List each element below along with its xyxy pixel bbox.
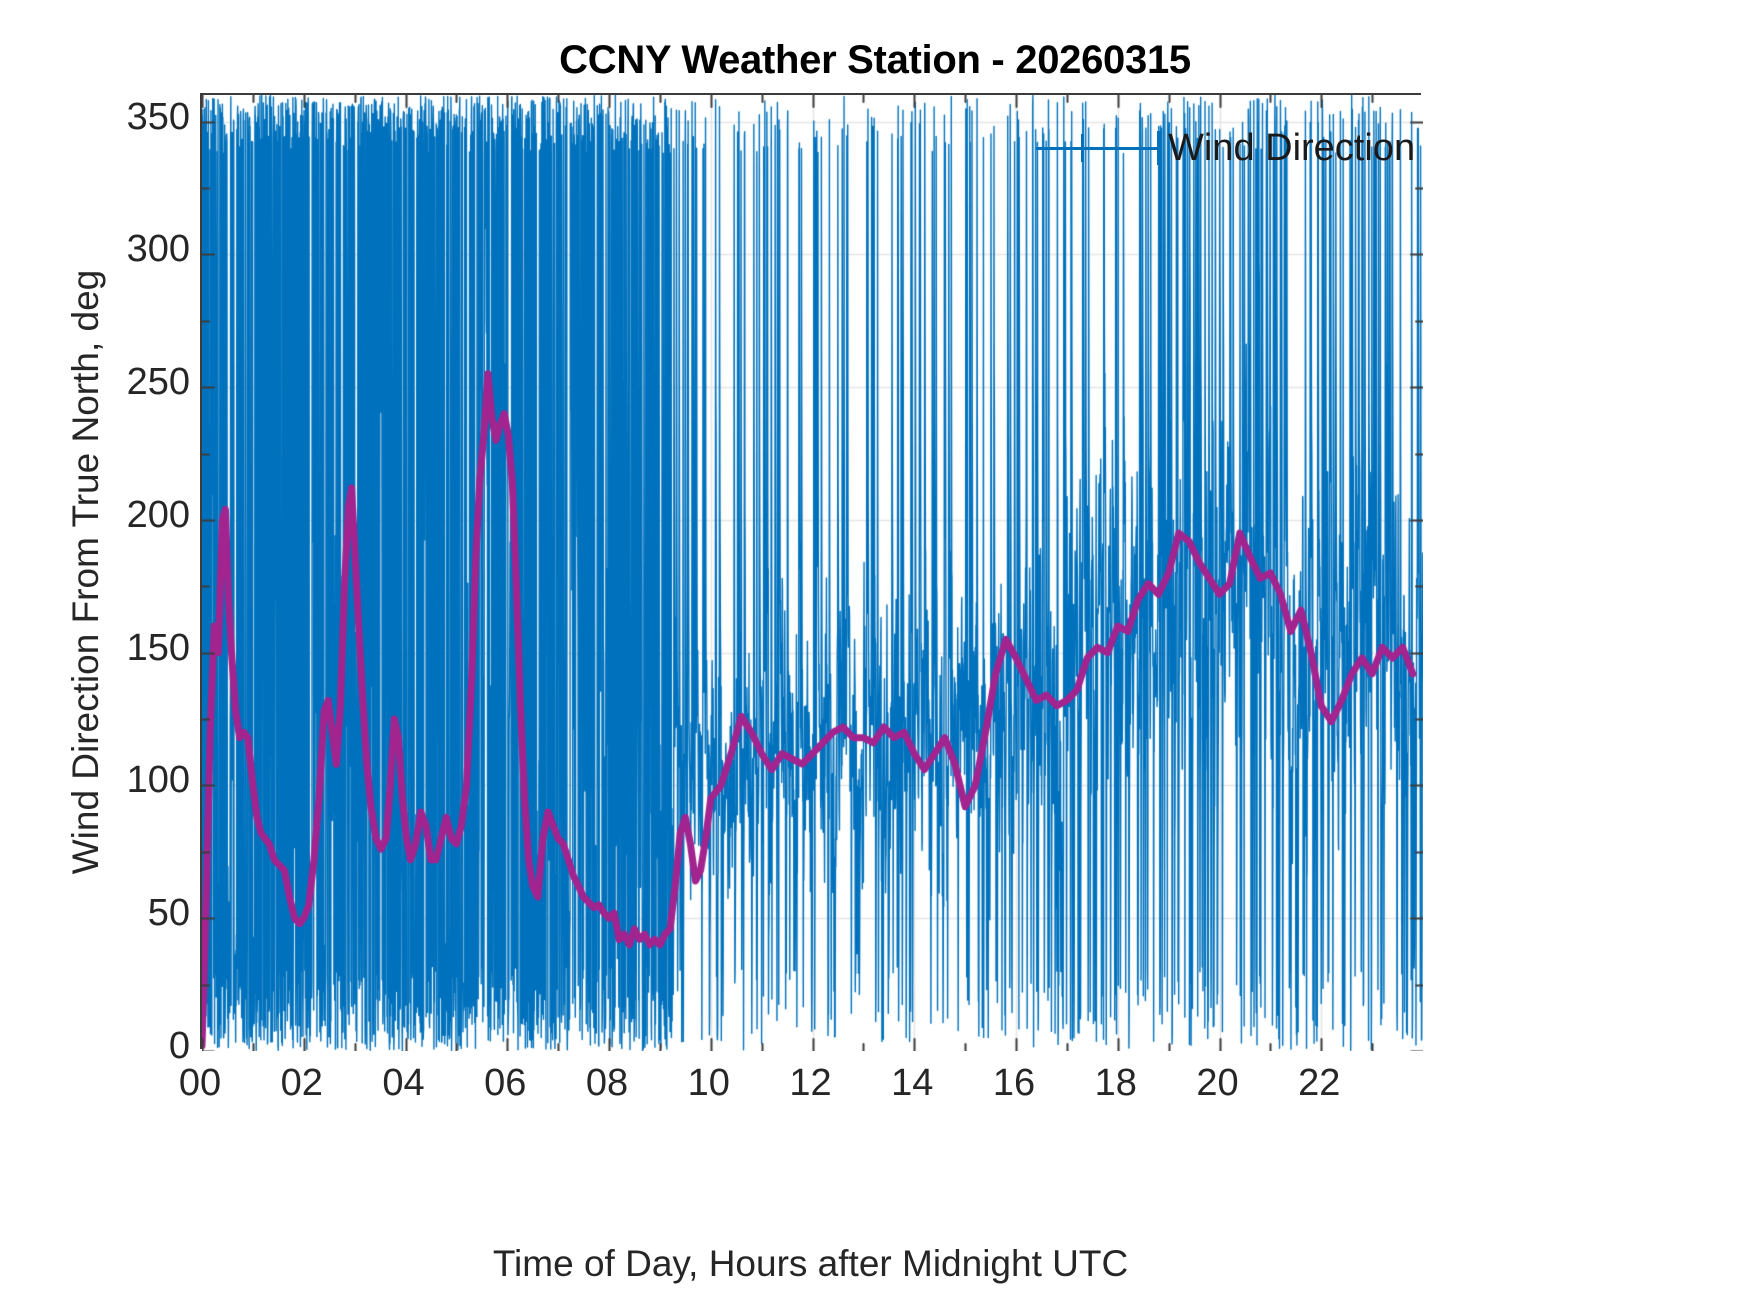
y-axis-tick-label: 50 (148, 892, 190, 935)
y-axis-tick-label: 250 (127, 361, 190, 404)
x-axis-tick-label: 04 (364, 1062, 444, 1105)
y-axis-tick-label: 300 (127, 228, 190, 271)
legend[interactable]: Wind Direction (1036, 122, 1415, 174)
legend-line-swatch (1036, 134, 1160, 162)
chart-title: CCNY Weather Station - 20260315 (0, 38, 1750, 83)
y-axis-label: Wind Direction From True North, deg (58, 94, 114, 1050)
plot-area (200, 93, 1421, 1049)
x-axis-tick-label: 20 (1178, 1062, 1258, 1105)
x-axis-tick-label: 18 (1076, 1062, 1156, 1105)
x-axis-tick-label: 14 (872, 1062, 952, 1105)
x-axis-tick-label: 10 (669, 1062, 749, 1105)
legend-swatch-horizontal (1036, 147, 1160, 150)
x-axis-tick-label: 16 (974, 1062, 1054, 1105)
legend-entry-label: Wind Direction (1160, 127, 1415, 170)
y-axis-tick-label: 200 (127, 494, 190, 537)
x-axis-tick-label: 08 (567, 1062, 647, 1105)
legend-swatch-tick-right (1157, 131, 1160, 165)
y-axis-tick-label: 100 (127, 759, 190, 802)
y-axis-tick-label: 350 (127, 96, 190, 139)
y-axis-tick-label: 150 (127, 627, 190, 670)
plot-canvas (202, 95, 1423, 1051)
x-axis-tick-label: 00 (160, 1062, 240, 1105)
x-axis-tick-label: 12 (771, 1062, 851, 1105)
x-axis-label: Time of Day, Hours after Midnight UTC (200, 1243, 1421, 1285)
x-axis-tick-label: 06 (465, 1062, 545, 1105)
chart-figure: CCNY Weather Station - 20260315 Wind Dir… (0, 0, 1750, 1313)
x-axis-tick-label: 02 (262, 1062, 342, 1105)
legend-swatch-tick-left (1081, 134, 1084, 162)
x-axis-tick-label: 22 (1279, 1062, 1359, 1105)
